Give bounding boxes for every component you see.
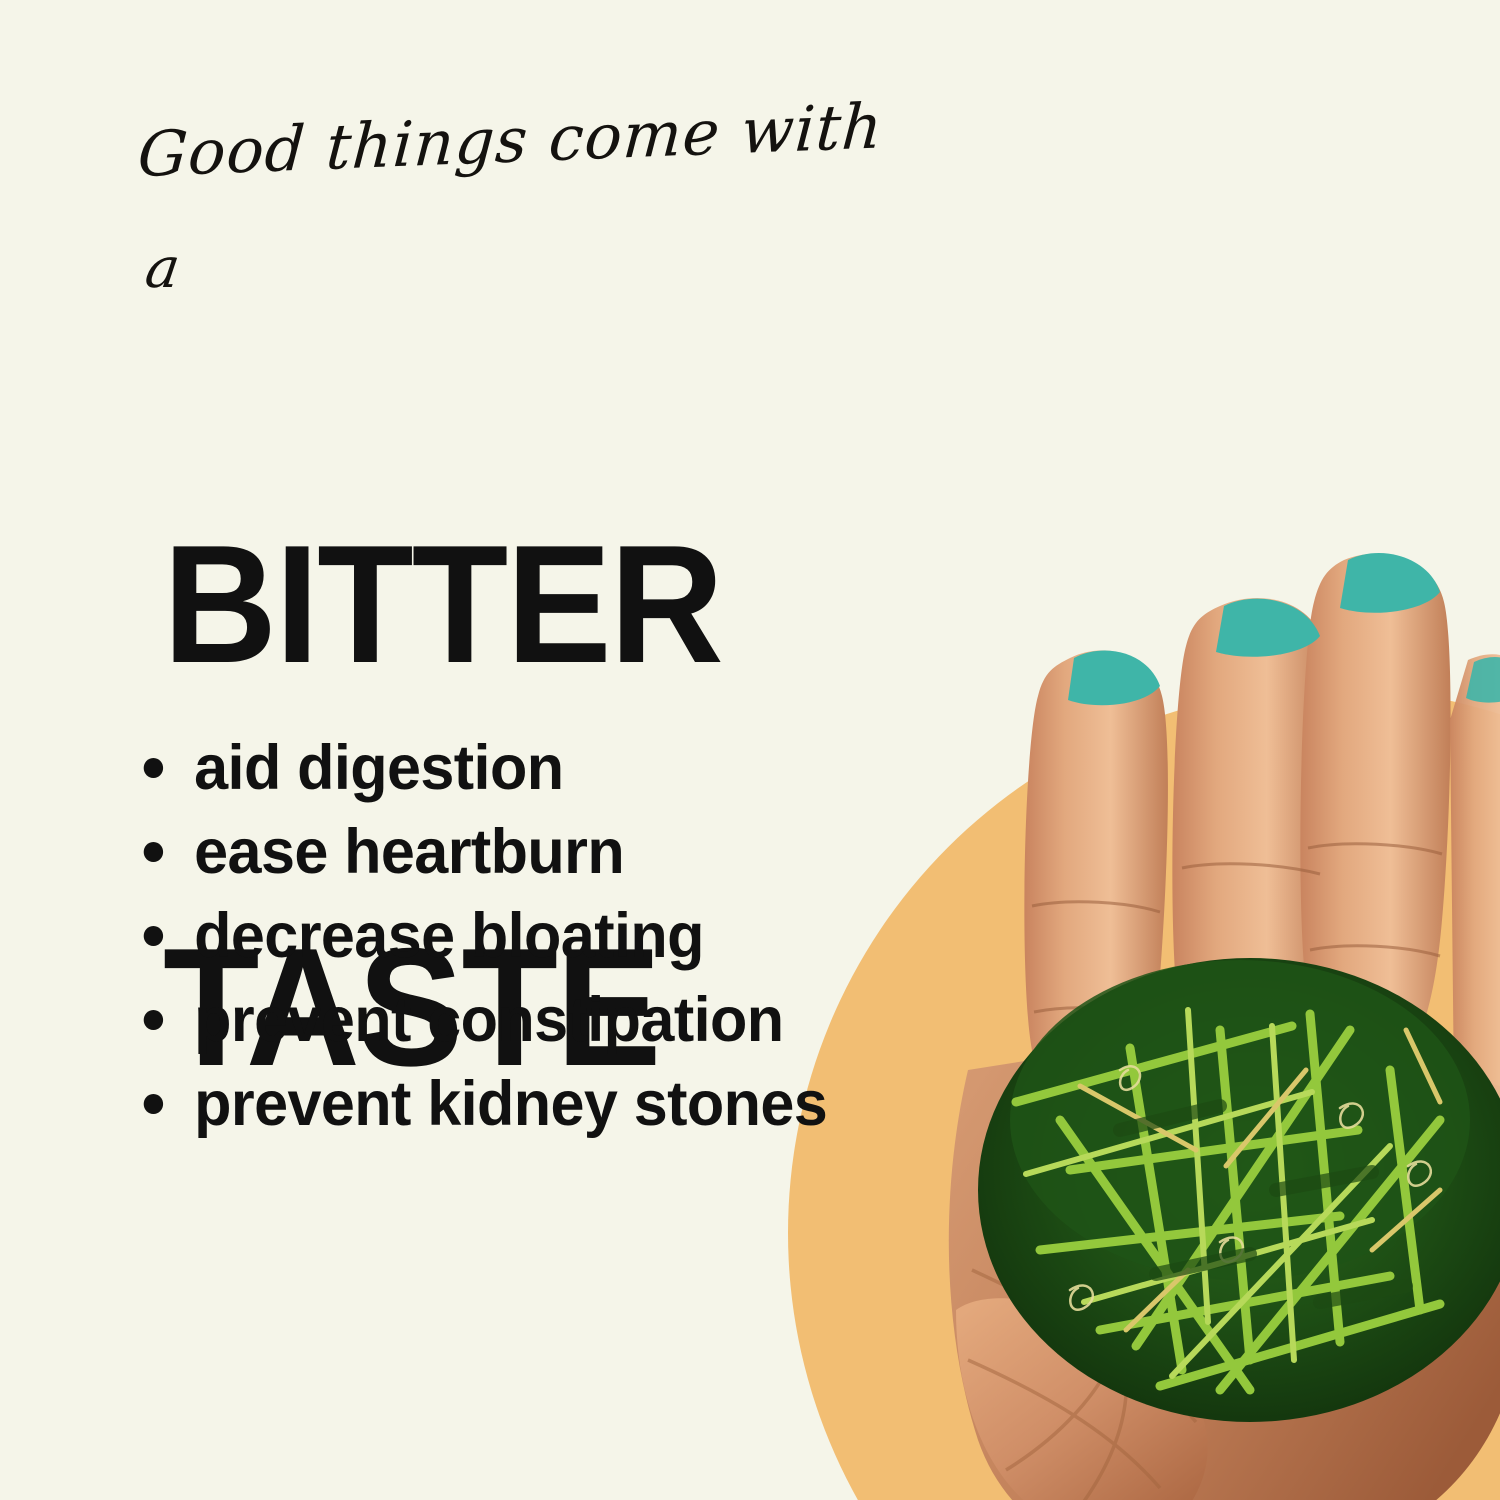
poster-canvas: Good things come with a BITTER TASTE aid…	[0, 0, 1500, 1500]
bullet-dot-icon	[144, 1094, 163, 1114]
list-item: prevent constipation	[134, 978, 827, 1062]
list-item-label: prevent kidney stones	[194, 1068, 827, 1140]
list-item-label: prevent constipation	[194, 984, 783, 1056]
list-item: aid digestion	[134, 726, 827, 810]
hand-photo-illustration	[920, 430, 1500, 1500]
list-item: prevent kidney stones	[134, 1062, 827, 1146]
list-item-label: ease heartburn	[194, 816, 624, 888]
list-item-label: aid digestion	[194, 732, 563, 804]
page-title-line-1: BITTER	[163, 537, 722, 671]
list-item: ease heartburn	[134, 810, 827, 894]
hand-with-greens-photo	[920, 430, 1500, 1500]
bullet-dot-icon	[144, 1010, 163, 1030]
bullet-dot-icon	[144, 758, 163, 778]
list-item: decrease bloating	[134, 894, 827, 978]
benefits-list: aid digestion ease heartburn decrease bl…	[134, 726, 849, 1146]
script-tagline: Good things come with	[136, 89, 886, 191]
list-item-label: decrease bloating	[194, 900, 704, 972]
bullet-dot-icon	[144, 842, 163, 862]
bullet-dot-icon	[144, 926, 163, 946]
